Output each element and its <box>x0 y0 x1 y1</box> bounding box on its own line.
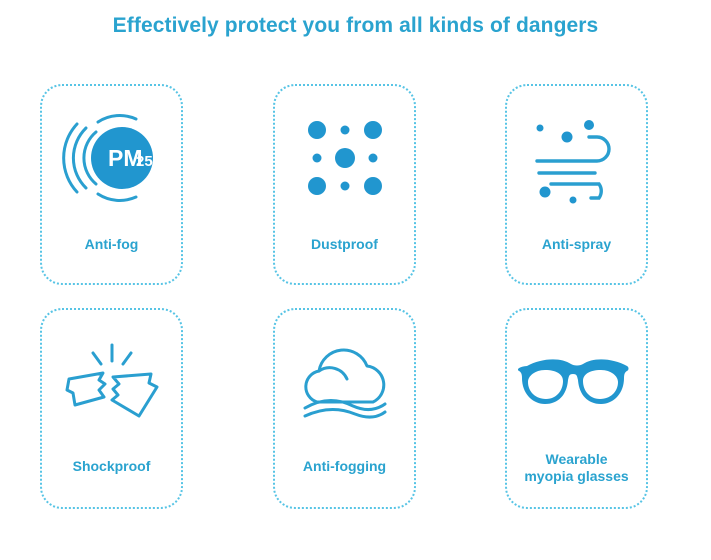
feature-card-anti-fogging[interactable]: Anti-fogging <box>273 308 416 509</box>
feature-card-grid: PM 25 Anti-fog Dustproof <box>40 84 672 525</box>
page-title: Effectively protect you from all kinds o… <box>0 14 711 38</box>
feature-card-wearable-myopia-glasses[interactable]: Wearable myopia glasses <box>505 308 648 509</box>
feature-label-dustproof: Dustproof <box>275 236 414 253</box>
pm25-circle-icon: PM 25 <box>42 108 181 208</box>
feature-card-anti-fog[interactable]: PM 25 Anti-fog <box>40 84 183 285</box>
feature-label-anti-fogging: Anti-fogging <box>275 458 414 475</box>
feature-card-dustproof[interactable]: Dustproof <box>273 84 416 285</box>
feature-card-shockproof[interactable]: Shockproof <box>40 308 183 509</box>
broken-shatter-icon <box>42 332 181 432</box>
feature-label-anti-fog: Anti-fog <box>42 236 181 253</box>
dust-dots-grid-icon <box>275 108 414 208</box>
eyeglasses-icon <box>507 332 646 432</box>
feature-card-anti-spray[interactable]: Anti-spray <box>505 84 648 285</box>
feature-label-wearable-myopia-glasses: Wearable myopia glasses <box>507 451 646 485</box>
feature-label-shockproof: Shockproof <box>42 458 181 475</box>
cloud-fog-icon <box>275 332 414 432</box>
wind-spray-icon <box>507 108 646 208</box>
pm25-sub-text: 25 <box>136 153 153 170</box>
feature-label-anti-spray: Anti-spray <box>507 236 646 253</box>
